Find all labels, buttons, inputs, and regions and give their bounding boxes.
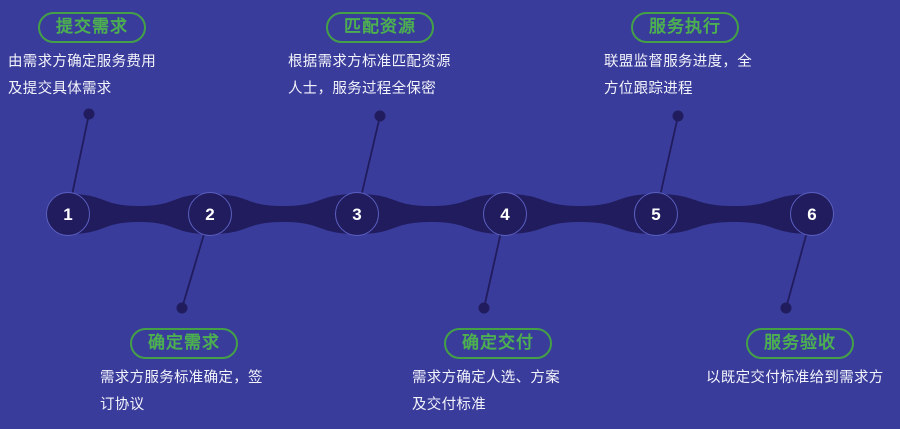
step-number-label: 2 [205,206,214,223]
step-pill-wrap: 服务验收 [706,328,884,359]
step-node-1[interactable]: 1 [46,192,90,236]
step-callout-2: 确定需求需求方服务标准确定，签订协议 [100,328,263,419]
step-title-pill-1[interactable]: 提交需求 [38,12,146,43]
step-callout-6: 服务验收以既定交付标准给到需求方 [706,328,884,392]
step-node-4[interactable]: 4 [483,192,527,236]
step-callout-4: 确定交付需求方确定人选、方案及交付标准 [412,328,560,419]
step-title-pill-2[interactable]: 确定需求 [130,328,238,359]
step-description-line: 需求方确定人选、方案 [412,365,560,392]
step-description-line: 根据需求方标准匹配资源 [288,49,451,76]
step-pill-wrap: 服务执行 [604,12,752,43]
leader-line-1 [72,114,89,194]
step-description-line: 及提交具体需求 [8,76,156,103]
step-description-line: 及交付标准 [412,392,560,419]
step-description-4: 需求方确定人选、方案及交付标准 [412,365,560,419]
step-number-label: 6 [807,206,816,223]
step-description-line: 以既定交付标准给到需求方 [706,365,884,392]
step-node-2[interactable]: 2 [188,192,232,236]
step-description-5: 联盟监督服务进度，全方位跟踪进程 [604,49,752,103]
step-pill-wrap: 提交需求 [8,12,156,43]
leader-dot-2 [177,303,188,314]
leader-line-4 [484,234,501,308]
step-number-label: 3 [352,206,361,223]
process-flow-diagram: 123456 提交需求由需求方确定服务费用及提交具体需求确定需求需求方服务标准确… [0,0,900,429]
timeline-band [68,194,812,234]
step-node-3[interactable]: 3 [335,192,379,236]
step-number-label: 5 [651,206,660,223]
step-callout-1: 提交需求由需求方确定服务费用及提交具体需求 [8,12,156,103]
step-title-pill-5[interactable]: 服务执行 [631,12,739,43]
leader-line-3 [362,116,380,195]
leader-dot-5 [673,111,684,122]
leader-dot-4 [479,303,490,314]
step-pill-wrap: 确定需求 [100,328,263,359]
leader-line-2 [182,233,204,308]
leader-dot-1 [84,109,95,120]
step-title-pill-4[interactable]: 确定交付 [444,328,552,359]
step-description-6: 以既定交付标准给到需求方 [706,365,884,392]
leader-line-5 [660,116,678,194]
step-description-line: 订协议 [100,392,263,419]
step-description-line: 需求方服务标准确定，签 [100,365,263,392]
step-pill-wrap: 匹配资源 [288,12,451,43]
step-description-line: 方位跟踪进程 [604,76,752,103]
leader-line-6 [786,233,807,308]
step-node-5[interactable]: 5 [634,192,678,236]
step-callout-5: 服务执行联盟监督服务进度，全方位跟踪进程 [604,12,752,103]
step-description-3: 根据需求方标准匹配资源人士，服务过程全保密 [288,49,451,103]
step-number-label: 1 [63,206,72,223]
step-description-1: 由需求方确定服务费用及提交具体需求 [8,49,156,103]
step-description-line: 由需求方确定服务费用 [8,49,156,76]
step-node-6[interactable]: 6 [790,192,834,236]
step-callout-3: 匹配资源根据需求方标准匹配资源人士，服务过程全保密 [288,12,451,103]
step-title-pill-3[interactable]: 匹配资源 [326,12,434,43]
step-number-label: 4 [500,206,509,223]
step-title-pill-6[interactable]: 服务验收 [746,328,854,359]
leader-dot-3 [375,111,386,122]
leader-dot-6 [781,303,792,314]
step-description-line: 联盟监督服务进度，全 [604,49,752,76]
step-pill-wrap: 确定交付 [412,328,560,359]
step-description-2: 需求方服务标准确定，签订协议 [100,365,263,419]
step-description-line: 人士，服务过程全保密 [288,76,451,103]
